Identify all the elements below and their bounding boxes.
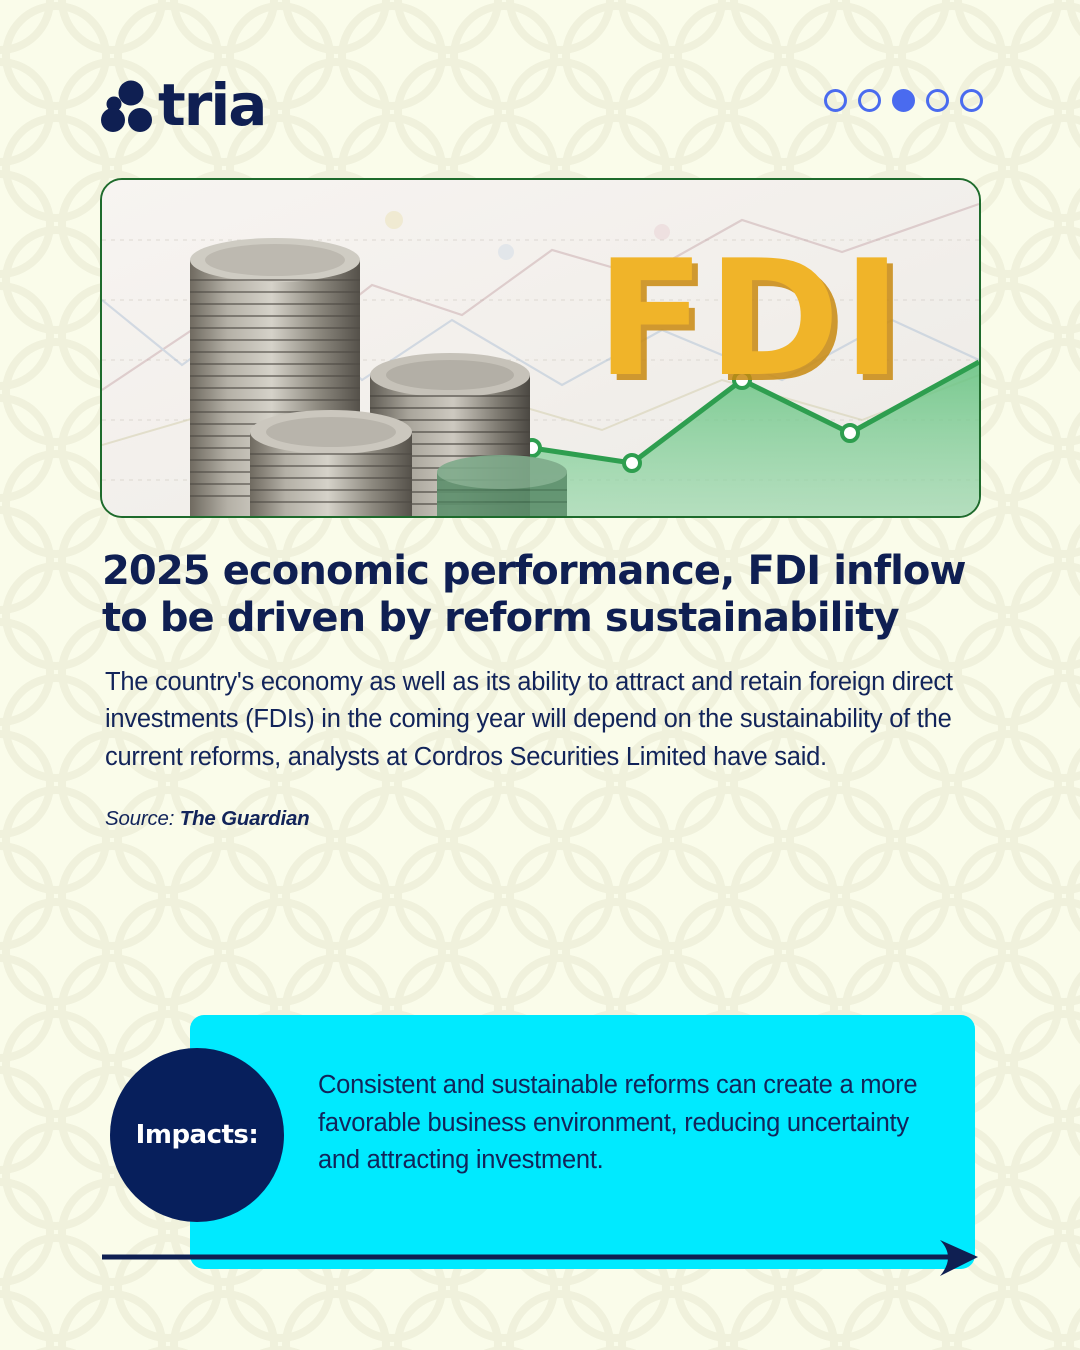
page-dot-5[interactable] [960, 89, 983, 112]
impacts-badge-label: Impacts: [136, 1120, 259, 1150]
page-dot-2[interactable] [858, 89, 881, 112]
source-name: The Guardian [180, 807, 310, 830]
brand-name: tria [158, 76, 265, 134]
brand-logo[interactable]: tria [100, 78, 265, 134]
page-dot-1[interactable] [824, 89, 847, 112]
svg-text:FDI: FDI [596, 225, 904, 412]
timeline-arrow [100, 1240, 980, 1282]
source-line: Source: The Guardian [105, 807, 994, 831]
page-dot-3-active[interactable] [892, 89, 915, 112]
impacts-card: Consistent and sustainable reforms can c… [190, 1015, 975, 1269]
impacts-body: Consistent and sustainable reforms can c… [318, 1067, 943, 1180]
arrow-right-icon [100, 1240, 980, 1282]
hero-image: FDI FDI [100, 178, 981, 518]
tria-dots-logo-icon [100, 80, 158, 132]
top-bar: tria [0, 0, 1080, 175]
article-block: 2025 economic performance, FDI inflow to… [102, 548, 994, 831]
article-summary: The country's economy as well as its abi… [105, 664, 957, 776]
page-indicator[interactable] [824, 89, 983, 112]
hero-illustration: FDI FDI [102, 180, 979, 516]
page-title: 2025 economic performance, FDI inflow to… [102, 548, 994, 642]
source-label: Source: [105, 807, 174, 830]
page-dot-4[interactable] [926, 89, 949, 112]
impacts-badge: Impacts: [110, 1048, 284, 1222]
